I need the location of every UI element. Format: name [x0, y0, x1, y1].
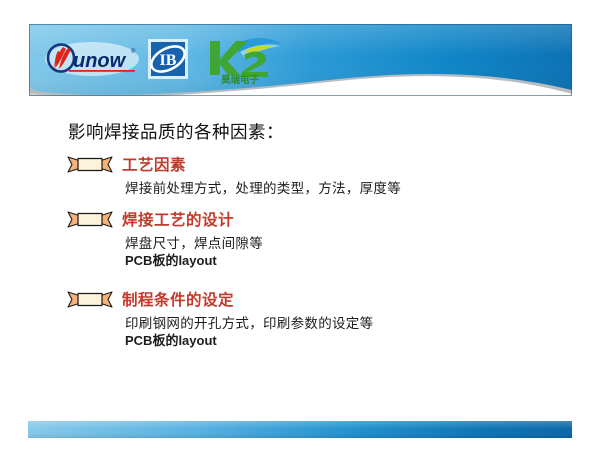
section-header: 焊接工艺的设计: [0, 208, 600, 232]
ruiry-electronics-logo: 昊瑞电子: [196, 33, 284, 85]
section-title: 制程条件的设定: [122, 288, 234, 310]
body-line: PCB板的layout: [125, 252, 565, 269]
section-header: 工艺因素: [0, 153, 600, 177]
body-line: 印刷钢网的开孔方式，印刷参数的设定等: [125, 315, 565, 332]
sunow-logo: unow ®: [45, 39, 140, 79]
section-body: 印刷钢网的开孔方式，印刷参数的设定等 PCB板的layout: [125, 315, 565, 349]
body-line: 焊接前处理方式，处理的类型，方法，厚度等: [125, 180, 565, 197]
section-title: 焊接工艺的设计: [122, 208, 234, 230]
section-body: 焊盘尺寸，焊点间隙等 PCB板的layout: [125, 235, 565, 269]
ribbon-banner-icon: [66, 210, 114, 229]
body-line: 焊盘尺寸，焊点间隙等: [125, 235, 565, 252]
section-body: 焊接前处理方式，处理的类型，方法，厚度等: [125, 180, 565, 197]
page-title: 影响焊接品质的各种因素：: [68, 119, 284, 144]
footer-bar: [28, 421, 572, 438]
section-制程条件的设定: 制程条件的设定 印刷钢网的开孔方式，印刷参数的设定等 PCB板的layout: [0, 288, 600, 312]
sunow-wordmark: unow: [73, 50, 127, 72]
ib-logo: IB: [148, 39, 188, 79]
logo-row: unow ® IB: [45, 33, 284, 85]
section-header: 制程条件的设定: [0, 288, 600, 312]
registered-trademark-icon: ®: [131, 48, 136, 55]
ribbon-banner-icon: [66, 155, 114, 174]
body-line: PCB板的layout: [125, 332, 565, 349]
section-title: 工艺因素: [122, 153, 186, 175]
ruiry-chinese-name: 昊瑞电子: [221, 74, 260, 85]
section-焊接工艺的设计: 焊接工艺的设计 焊盘尺寸，焊点间隙等 PCB板的layout: [0, 208, 600, 232]
section-工艺因素: 工艺因素 焊接前处理方式，处理的类型，方法，厚度等: [0, 153, 600, 177]
ib-wordmark: IB: [160, 52, 177, 69]
ribbon-banner-icon: [66, 290, 114, 309]
